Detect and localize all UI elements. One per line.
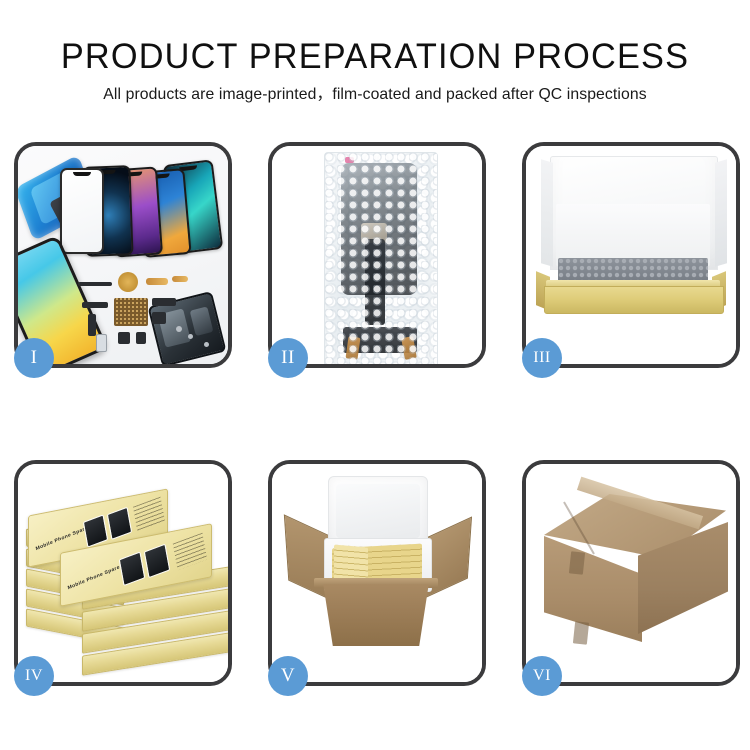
- small-part: [88, 314, 96, 336]
- step-badge-6: VI: [522, 656, 562, 696]
- step-panel-2: II: [268, 142, 486, 368]
- box-window-phone: [83, 514, 108, 547]
- sim-tray-part: [96, 334, 107, 352]
- foam-sheet: [556, 204, 710, 266]
- box-front-panel: [544, 286, 724, 314]
- step-image-5: [272, 464, 482, 682]
- small-part: [152, 298, 176, 306]
- step-image-1: [18, 146, 228, 364]
- page-subtitle: All products are image-printed，film-coat…: [6, 84, 745, 106]
- flex-cable-part: [146, 278, 168, 285]
- step-panel-4: Mobile Phone Spare Parts Mobile Phone Sp…: [14, 460, 232, 686]
- process-steps-grid: I II: [14, 142, 736, 686]
- box-stack: Mobile Phone Spare Parts Mobile Phone Sp…: [26, 486, 228, 672]
- step-badge-1: I: [14, 338, 54, 378]
- step-panel-3: III: [522, 142, 740, 368]
- page-title: PRODUCT PREPARATION PROCESS: [8, 36, 743, 78]
- screw-part: [176, 326, 182, 332]
- step-panel-6: VI: [522, 460, 740, 686]
- screw-part: [204, 342, 209, 347]
- step-image-3: [526, 146, 736, 364]
- small-part: [78, 282, 112, 286]
- foam-lid: [328, 476, 428, 546]
- flex-tab: [346, 336, 361, 359]
- small-part: [136, 332, 146, 344]
- vibration-motor-part: [118, 272, 138, 292]
- step-badge-5: V: [268, 656, 308, 696]
- screw-part: [188, 334, 193, 339]
- step-panel-5: V: [268, 460, 486, 686]
- page-header: PRODUCT PREPARATION PROCESS All products…: [0, 0, 750, 125]
- box-window-phone: [119, 551, 146, 586]
- flex-cable-part: [172, 276, 188, 282]
- ic-chip-tray-part: [114, 298, 148, 326]
- box-spec-lines: [173, 533, 207, 571]
- screen-flex-cable: [365, 239, 385, 325]
- step-badge-2: II: [268, 338, 308, 378]
- small-part: [82, 302, 108, 308]
- box-window-phone: [144, 544, 171, 579]
- step-image-4: Mobile Phone Spare Parts Mobile Phone Sp…: [18, 464, 228, 682]
- carton-tab: [573, 621, 589, 644]
- step-image-6: [526, 464, 736, 682]
- box-spec-lines: [133, 497, 165, 532]
- step-panel-1: I: [14, 142, 232, 368]
- step-badge-3: III: [522, 338, 562, 378]
- carton-front-panel: [316, 584, 436, 646]
- step-image-2: [272, 146, 482, 364]
- step-badge-4: IV: [14, 656, 54, 696]
- small-part: [152, 312, 166, 324]
- box-window-phone: [107, 507, 132, 540]
- phone-device-glass: [60, 168, 104, 254]
- speaker-part: [118, 332, 130, 344]
- carton-tab: [569, 551, 585, 574]
- bubble-wrap-bag: [324, 152, 438, 364]
